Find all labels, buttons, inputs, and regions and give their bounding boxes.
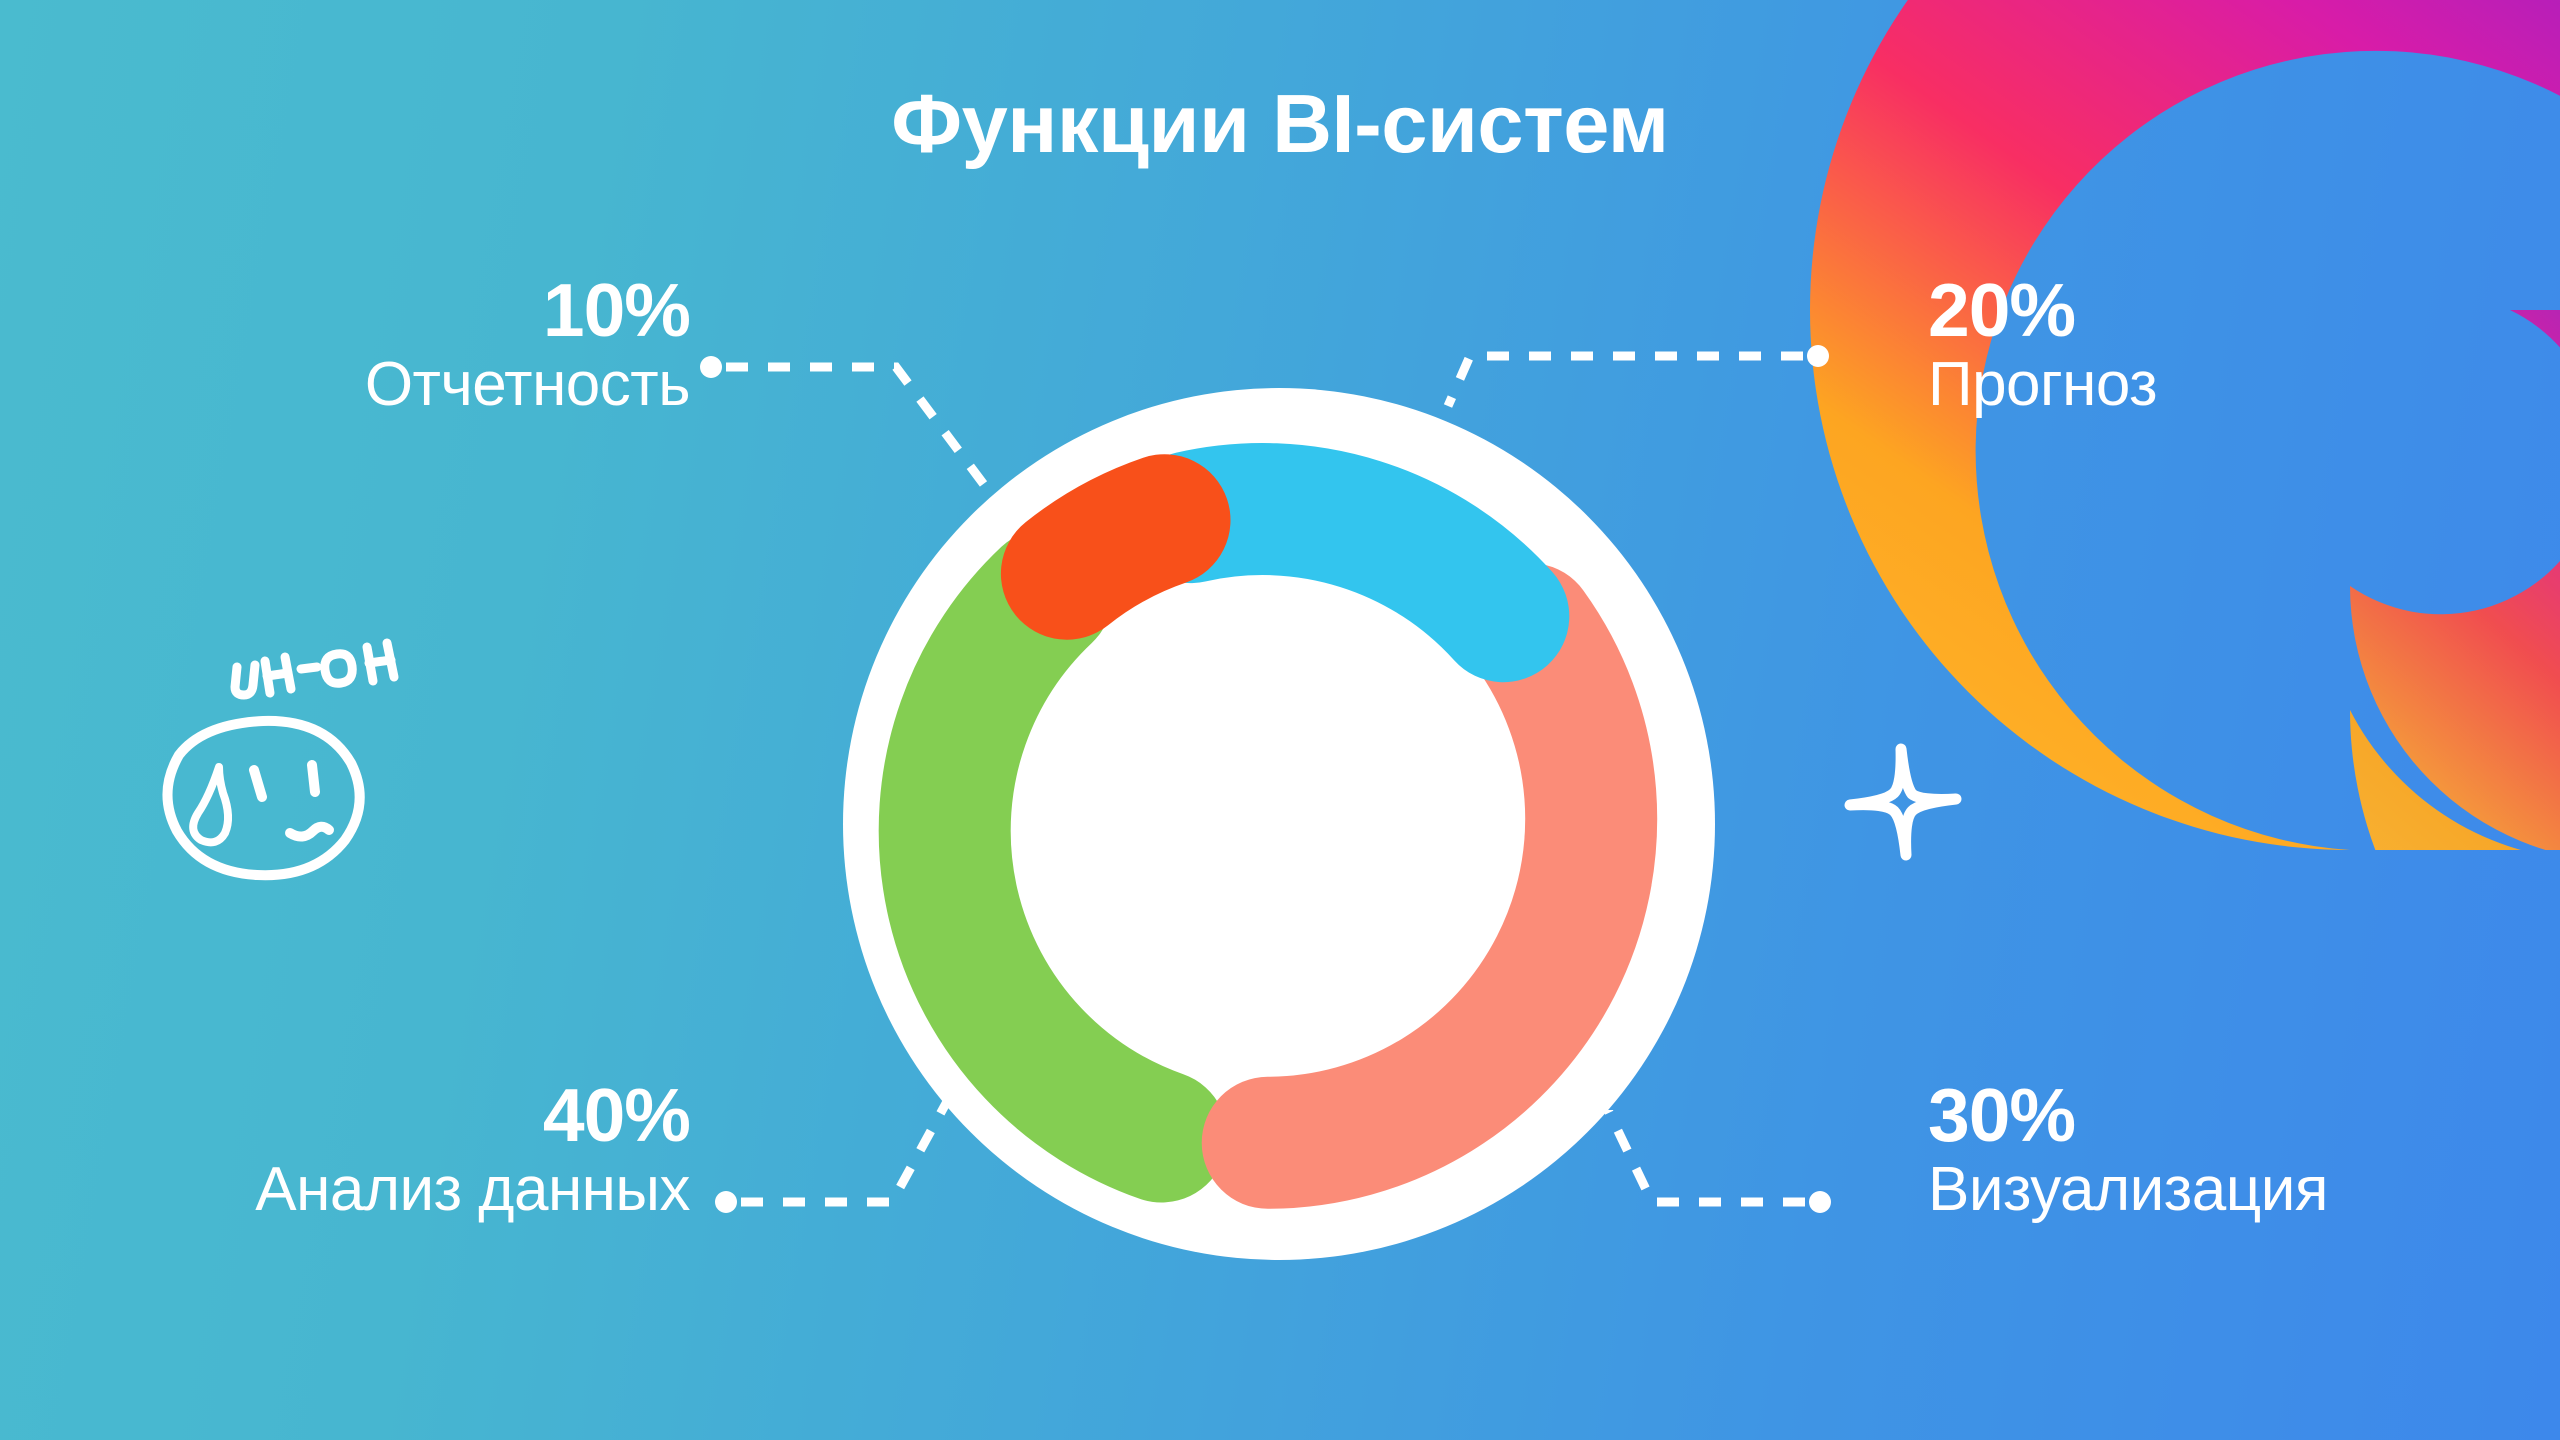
connector-dot [700, 356, 722, 378]
callout-percent: 40% [40, 1077, 690, 1154]
callout-caption: Визуализация [1928, 1158, 2548, 1222]
donut-chart [843, 388, 1715, 1260]
page-title: Функции BI-систем [0, 82, 2560, 165]
callout-caption: Прогноз [1928, 353, 2528, 417]
callout-reporting: 10% Отчетность [60, 272, 690, 417]
callout-percent: 20% [1928, 272, 2528, 349]
callout-percent: 30% [1928, 1077, 2548, 1154]
connector-dot [715, 1191, 737, 1213]
chart-segment-reporting [1067, 520, 1165, 574]
uh-oh-doodle-icon [115, 625, 425, 935]
connector-dot [1807, 345, 1829, 367]
callout-caption: Анализ данных [40, 1158, 690, 1222]
chart-hub [1045, 590, 1513, 1058]
callout-visualization: 30% Визуализация [1928, 1077, 2548, 1222]
four-point-sparkle-icon [1838, 737, 1968, 867]
callout-percent: 10% [60, 272, 690, 349]
callout-analysis: 40% Анализ данных [40, 1077, 690, 1222]
infographic-canvas: Функции BI-систем [0, 0, 2560, 1440]
callout-forecast: 20% Прогноз [1928, 272, 2528, 417]
connector-dot [1809, 1191, 1831, 1213]
callout-caption: Отчетность [60, 353, 690, 417]
